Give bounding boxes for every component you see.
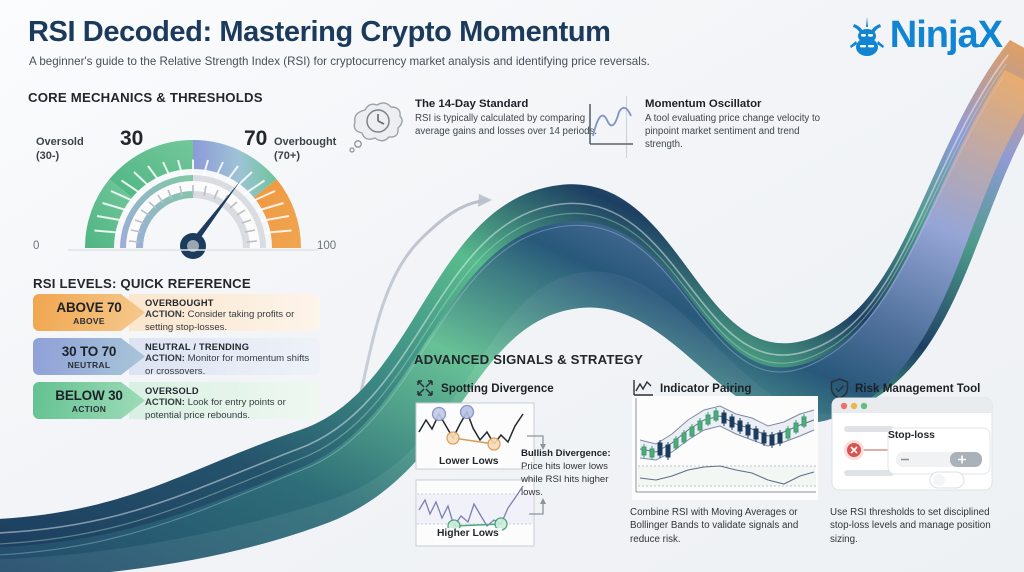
indicator-pairing-caption: Combine RSI with Moving Averages or Boll… <box>630 506 815 546</box>
level-action: ACTION: Monitor for momentum shifts or c… <box>145 353 312 378</box>
callout-desc: A tool evaluating price change velocity … <box>645 112 835 151</box>
level-body-0: OVERBOUGHT ACTION: Consider taking profi… <box>129 294 320 331</box>
brand-logo[interactable]: NinjaX <box>847 14 1002 57</box>
callout-momentum-oscillator: Momentum Oscillator A tool evaluating pr… <box>645 98 835 151</box>
callout-title: The 14-Day Standard <box>415 98 605 110</box>
gauge-label-oversold: Oversold(30-) <box>36 136 84 164</box>
section-heading-advanced: ADVANCED SIGNALS & STRATEGY <box>414 352 643 367</box>
candlestick-bollinger-chart <box>632 396 818 500</box>
callout-title: Momentum Oscillator <box>645 98 835 110</box>
level-range: ABOVE 70 <box>56 300 121 315</box>
advanced-title: Risk Management Tool <box>855 382 980 395</box>
level-range: 30 TO 70 <box>62 344 116 359</box>
level-body-1: NEUTRAL / TRENDING ACTION: Monitor for m… <box>129 338 320 375</box>
level-body-2: OVERSOLD ACTION: Look for entry points o… <box>129 382 320 419</box>
level-title: OVERBOUGHT <box>145 298 312 308</box>
gauge-label-overbought: Overbought(70+) <box>274 136 336 164</box>
diverging-arrows-icon <box>415 378 435 398</box>
table-row[interactable]: OVERBOUGHT ACTION: Consider taking profi… <box>33 294 320 331</box>
advanced-heading-divergence: Spotting Divergence <box>415 378 554 398</box>
risk-management-caption: Use RSI thresholds to set disciplined st… <box>830 506 1010 546</box>
window-close-dot <box>841 403 847 409</box>
level-title: NEUTRAL / TRENDING <box>145 342 312 352</box>
table-row[interactable]: NEUTRAL / TRENDING ACTION: Monitor for m… <box>33 338 320 375</box>
gauge-graphic <box>28 110 358 260</box>
section-heading-core: CORE MECHANICS & THRESHOLDS <box>28 90 263 105</box>
level-tag: ACTION <box>72 404 106 414</box>
level-action: ACTION: Consider taking profits or setti… <box>145 309 312 334</box>
gauge-min-label: 0 <box>33 240 39 252</box>
divergence-label-higher-lows: Higher Lows <box>434 528 502 539</box>
rsi-gauge: Oversold(30-) Overbought(70+) 30 70 0 10… <box>28 110 358 260</box>
thought-cloud-clock-icon <box>345 100 407 158</box>
divergence-label-lower-lows: Lower Lows <box>436 456 502 467</box>
brand-name: NinjaX <box>890 14 1002 57</box>
rsi-levels-table: OVERBOUGHT ACTION: Consider taking profi… <box>33 294 320 426</box>
section-heading-levels: RSI LEVELS: QUICK REFERENCE <box>33 276 251 291</box>
level-tag: ABOVE <box>73 316 105 326</box>
ninja-emblem-icon <box>847 15 887 57</box>
advanced-title: Spotting Divergence <box>441 382 554 395</box>
window-maximize-dot <box>861 403 867 409</box>
gauge-max-label: 100 <box>317 240 336 252</box>
oscillator-wave-icon <box>585 100 637 152</box>
infographic-canvas: RSI Decoded: Mastering Crypto Momentum A… <box>0 0 1024 572</box>
callout-14-day-standard: The 14-Day Standard RSI is typically cal… <box>415 98 605 138</box>
line-chart-up-icon <box>632 378 654 398</box>
page-title: RSI Decoded: Mastering Crypto Momentum <box>28 16 611 49</box>
annotation-desc: Price hits lower lows while RSI hits hig… <box>521 461 608 498</box>
gauge-threshold-high: 70 <box>244 127 267 151</box>
level-range: BELOW 30 <box>55 388 122 403</box>
page-subtitle: A beginner's guide to the Relative Stren… <box>29 55 650 68</box>
gauge-threshold-low: 30 <box>120 127 143 151</box>
level-tag: NEUTRAL <box>68 360 111 370</box>
table-row[interactable]: OVERSOLD ACTION: Look for entry points o… <box>33 382 320 419</box>
annotation-title: Bullish Divergence: <box>521 448 611 459</box>
level-action: ACTION: Look for entry points or potenti… <box>145 397 312 422</box>
advanced-title: Indicator Pairing <box>660 382 751 395</box>
window-minimize-dot <box>851 403 857 409</box>
bullish-divergence-annotation: Bullish Divergence: Price hits lower low… <box>521 448 613 499</box>
stop-loss-label: Stop-loss <box>888 430 935 441</box>
level-title: OVERSOLD <box>145 386 312 396</box>
callout-desc: RSI is typically calculated by comparing… <box>415 112 605 138</box>
advanced-heading-indicator-pairing: Indicator Pairing <box>632 378 751 398</box>
stop-loss-app-mockup[interactable] <box>830 396 1000 496</box>
